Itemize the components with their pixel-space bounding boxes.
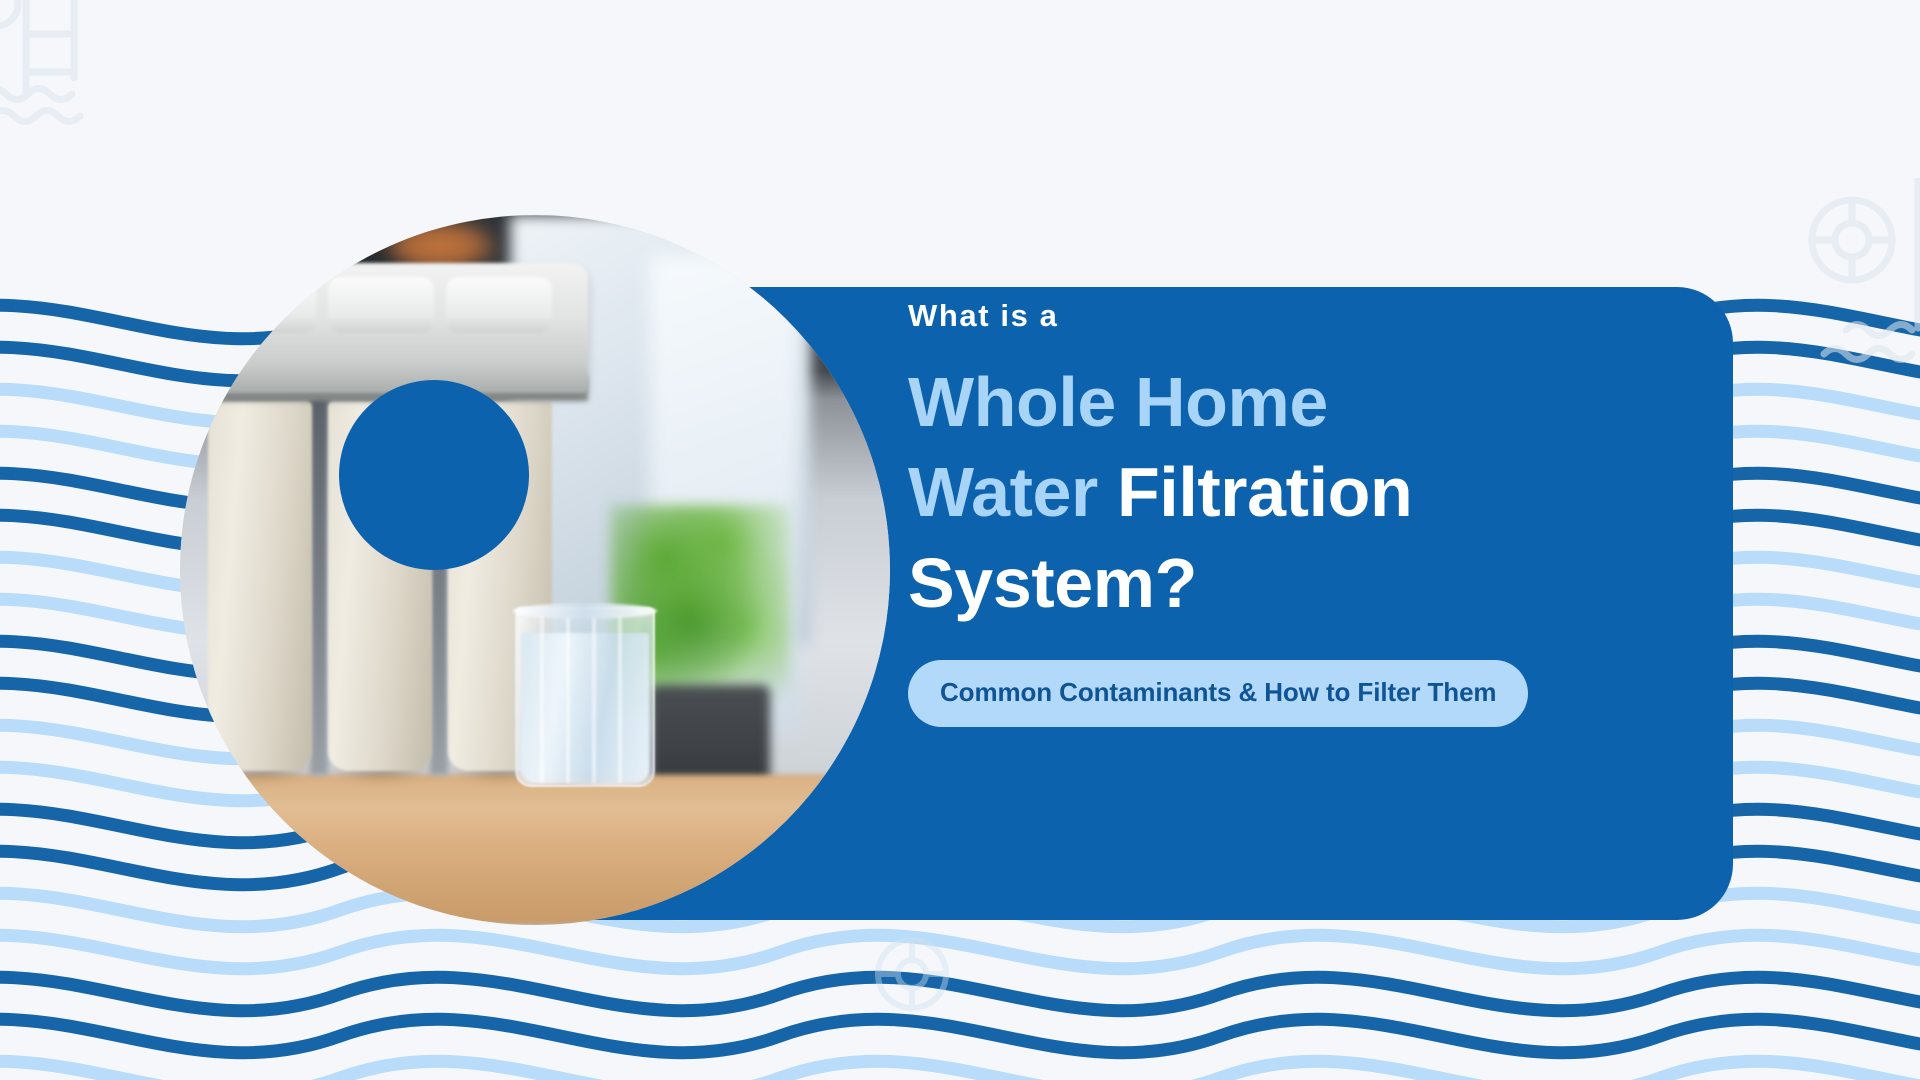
photo-filter-cap: [328, 277, 434, 333]
hero-banner: What is a Whole Home Water Filtration Sy…: [0, 0, 1920, 1080]
subtitle-badge[interactable]: Common Contaminants & How to Filter Them: [908, 660, 1528, 727]
headline-line-1: Whole Home: [908, 357, 1708, 447]
photo-glass-rim: [513, 603, 657, 619]
hero-text-block: What is a Whole Home Water Filtration Sy…: [908, 300, 1708, 727]
life-ring-icon: [1806, 178, 1920, 408]
photo-glass-facet: [566, 615, 570, 783]
photo-filter-cap: [446, 277, 552, 333]
overlay-dot: [339, 380, 529, 570]
photo-filter-gap: [310, 395, 328, 775]
headline-segment: Whole Home: [908, 363, 1328, 441]
headline-segment: System?: [908, 544, 1197, 622]
photo-filter-cap: [210, 277, 316, 333]
headline-segment: Water: [908, 453, 1117, 531]
headline-segment: Filtration: [1117, 453, 1412, 531]
page-title: Whole Home Water Filtration System?: [908, 357, 1708, 628]
hero-photo: [180, 215, 890, 925]
photo-glass-facet: [618, 615, 622, 783]
headline-line-2: Water Filtration: [908, 447, 1708, 537]
photo-scene: [180, 215, 890, 925]
pool-ladder-icon: [0, 0, 140, 142]
life-ring-icon: [860, 928, 980, 1038]
photo-counter: [180, 775, 890, 925]
photo-filter-canister: [208, 401, 312, 771]
photo-glass-facet: [540, 615, 544, 783]
eyebrow-text: What is a: [908, 300, 1708, 331]
photo-glass-facet: [592, 615, 596, 783]
headline-line-3: System?: [908, 538, 1708, 628]
